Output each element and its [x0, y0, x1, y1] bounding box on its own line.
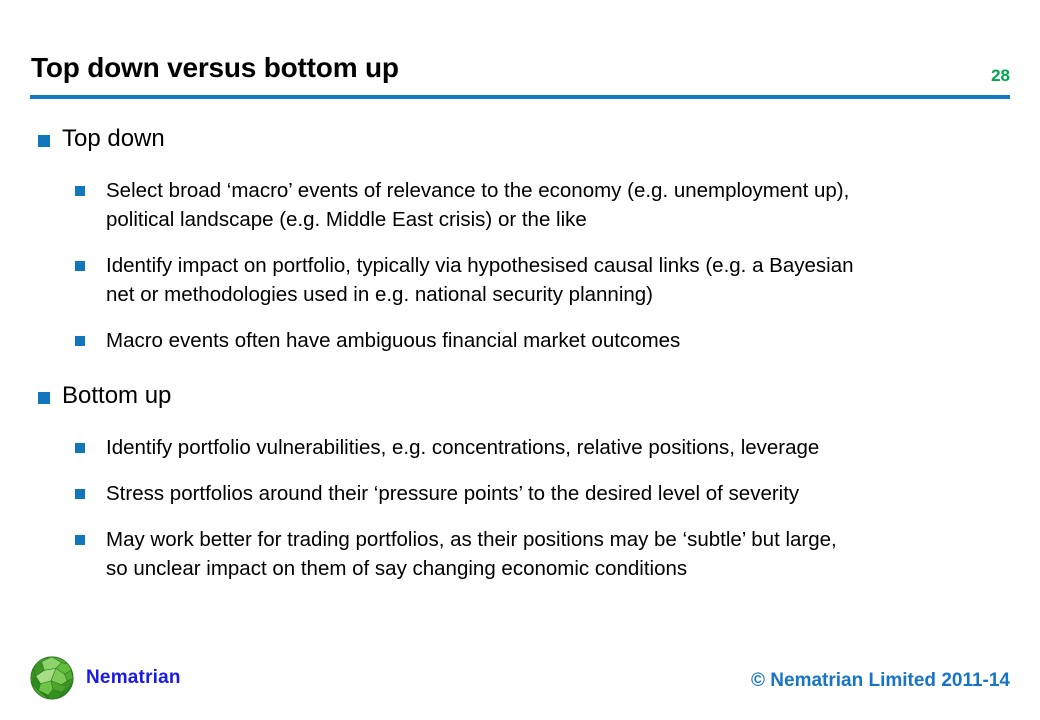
- brand-name: Nematrian: [86, 667, 181, 689]
- bullet-level2: Identify impact on portfolio, typically …: [0, 251, 1010, 309]
- copyright-notice: © Nematrian Limited 2011-14: [751, 670, 1010, 692]
- square-bullet-icon: [38, 135, 50, 147]
- bullet-level2-line: May work better for trading portfolios, …: [106, 525, 1010, 554]
- page-number: 28: [991, 66, 1010, 86]
- green-polyhedron-sphere-logo-icon: [28, 654, 76, 702]
- bullet-level2-line: political landscape (e.g. Middle East cr…: [106, 205, 1010, 234]
- square-bullet-icon: [75, 261, 85, 271]
- bullet-level1-label: Top down: [62, 125, 165, 152]
- bullet-level2: Stress portfolios around their ‘pressure…: [0, 479, 1010, 508]
- bullet-level2: Select broad ‘macro’ events of relevance…: [0, 176, 1010, 234]
- bullet-level2: May work better for trading portfolios, …: [0, 525, 1010, 583]
- bullet-level2-line: Macro events often have ambiguous financ…: [106, 326, 1010, 355]
- bullet-level2-line: Identify portfolio vulnerabilities, e.g.…: [106, 433, 1010, 462]
- bullet-level1-bottom-up: Bottom up: [0, 381, 1040, 411]
- square-bullet-icon: [75, 336, 85, 346]
- bullet-level2-line: Stress portfolios around their ‘pressure…: [106, 479, 1010, 508]
- square-bullet-icon: [75, 443, 85, 453]
- slide: Top down versus bottom up 28 Top down Se…: [0, 0, 1040, 720]
- page-title: Top down versus bottom up: [31, 52, 399, 84]
- bullet-level2-line: so unclear impact on them of say changin…: [106, 554, 1010, 583]
- bullet-level2-line: Select broad ‘macro’ events of relevance…: [106, 176, 1010, 205]
- slide-body: Top down Select broad ‘macro’ events of …: [0, 104, 1040, 583]
- square-bullet-icon: [75, 489, 85, 499]
- slide-footer: Nematrian © Nematrian Limited 2011-14: [0, 640, 1040, 720]
- bullet-level2-line: Identify impact on portfolio, typically …: [106, 251, 1010, 280]
- bullet-level1-label: Bottom up: [62, 382, 171, 409]
- slide-header: Top down versus bottom up 28: [0, 0, 1040, 104]
- square-bullet-icon: [38, 392, 50, 404]
- square-bullet-icon: [75, 535, 85, 545]
- bullet-level2: Macro events often have ambiguous financ…: [0, 326, 1010, 355]
- square-bullet-icon: [75, 186, 85, 196]
- bullet-level1-top-down: Top down: [0, 124, 1040, 154]
- bullet-level2-line: net or methodologies used in e.g. nation…: [106, 280, 1010, 309]
- brand-logo: Nematrian: [28, 654, 181, 702]
- title-divider: [30, 95, 1010, 99]
- bullet-level2: Identify portfolio vulnerabilities, e.g.…: [0, 433, 1010, 462]
